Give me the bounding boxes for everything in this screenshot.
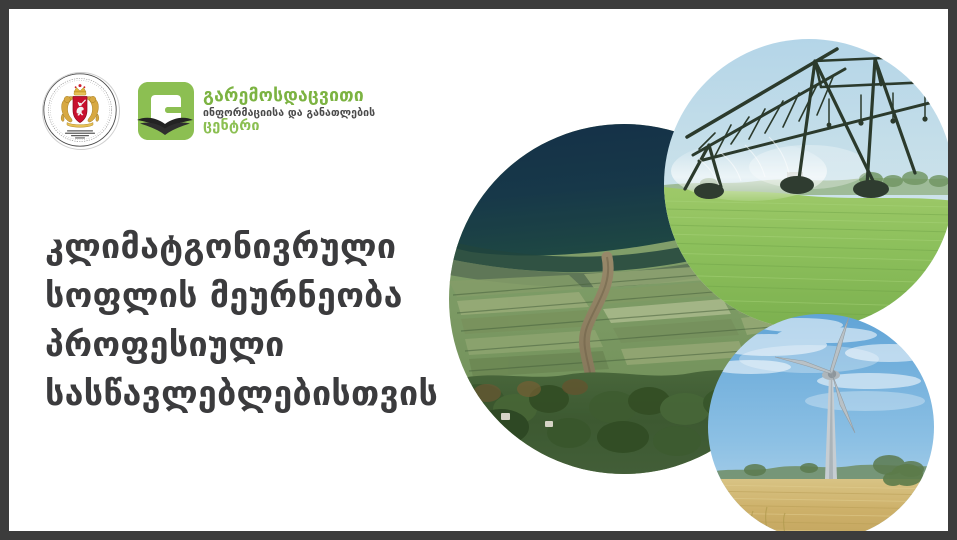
- georgia-coat-of-arms-seal-icon: [42, 72, 120, 150]
- open-book-in-green-square-logo-icon: [136, 80, 196, 142]
- eiec-wordmark: გარემოსდაცვითი ინფორმაციისა და განათლები…: [203, 88, 375, 134]
- circle-aerial-rural-landscape: [441, 124, 801, 501]
- title-line-1: კლიმატგონივრული: [45, 223, 475, 272]
- title-line-4: სასწავლებლებისთვის: [45, 370, 475, 419]
- title-line-2: სოფლის მეურნეობა: [45, 272, 475, 321]
- eiec-logo-line2: ინფორმაციისა და განათლების: [203, 108, 375, 119]
- eiec-logo-line3: ცენტრი: [203, 119, 375, 134]
- eiec-logo-line1: გარემოსდაცვითი: [203, 88, 375, 106]
- slide-frame: გარემოსდაცვითი ინფორმაციისა და განათლები…: [0, 0, 957, 540]
- eiec-logo: გარემოსდაცვითი ინფორმაციისა და განათლები…: [136, 80, 375, 142]
- header-logo-row: გარემოსდაცვითი ინფორმაციისა და განათლები…: [42, 72, 375, 150]
- title-line-3: პროფესიული: [45, 321, 475, 370]
- slide-canvas: გარემოსდაცვითი ინფორმაციისა და განათლები…: [9, 9, 948, 531]
- circle-wind-turbine: [704, 309, 944, 531]
- page-title: კლიმატგონივრული სოფლის მეურნეობა პროფესი…: [45, 223, 475, 419]
- circle-pivot-irrigation: [664, 39, 948, 329]
